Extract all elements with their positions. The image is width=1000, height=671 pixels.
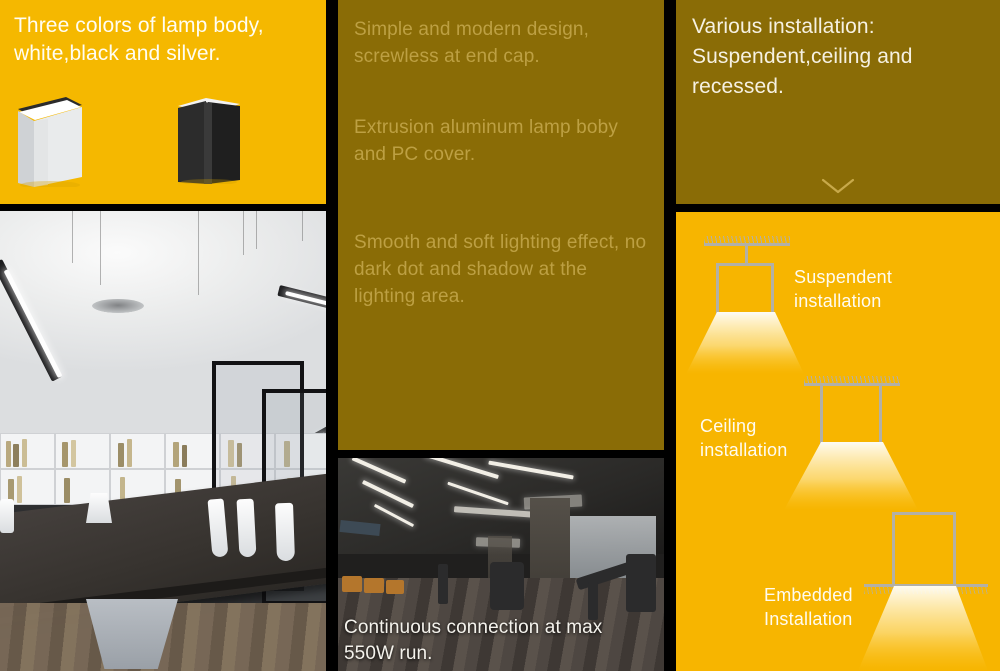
- suspendent-label: Suspendent installation: [794, 266, 914, 314]
- gym-photo-panel: Continuous connection at max 550W run.: [338, 458, 664, 671]
- chair: [0, 499, 14, 533]
- installation-diagram-panel: Suspendent installation Ceiling installa…: [676, 212, 1000, 671]
- feature-text-1: Simple and modern design, screwless at e…: [354, 17, 650, 71]
- office-photo-panel: [0, 211, 326, 671]
- installation-headline: Various installation: Suspendent,ceiling…: [692, 12, 982, 101]
- embedded-fixture: [892, 512, 956, 584]
- suspendent-light-beam: [686, 312, 804, 374]
- installation-intro-panel: Various installation: Suspendent,ceiling…: [676, 0, 1000, 204]
- colors-panel: Three colors of lamp body, white,black a…: [0, 0, 326, 204]
- gym-caption: Continuous connection at max 550W run.: [344, 615, 656, 667]
- black-lamp-image: [176, 96, 242, 184]
- ceiling-fixture: [820, 383, 882, 445]
- suspendent-fixture: [716, 263, 774, 315]
- feature-text-3: Smooth and soft lighting effect, no dark…: [354, 230, 650, 311]
- ceiling-label: Ceiling installation: [700, 415, 812, 463]
- suspendent-rod: [745, 243, 748, 263]
- ceiling-vent: [92, 299, 144, 313]
- colors-headline: Three colors of lamp body, white,black a…: [14, 12, 314, 68]
- embedded-label: Embedded Installation: [764, 584, 894, 632]
- chair: [275, 503, 295, 562]
- ceiling-mount-hatch: [804, 376, 900, 383]
- chair: [236, 499, 256, 558]
- suspendent-ceiling-hatch: [704, 236, 790, 243]
- chevron-down-icon[interactable]: [821, 178, 855, 194]
- feature-text-2: Extrusion aluminum lamp boby and PC cove…: [354, 115, 650, 169]
- white-lamp-image: [14, 95, 86, 187]
- feature-board: Three colors of lamp body, white,black a…: [0, 0, 1000, 671]
- features-panel: Simple and modern design, screwless at e…: [338, 0, 664, 450]
